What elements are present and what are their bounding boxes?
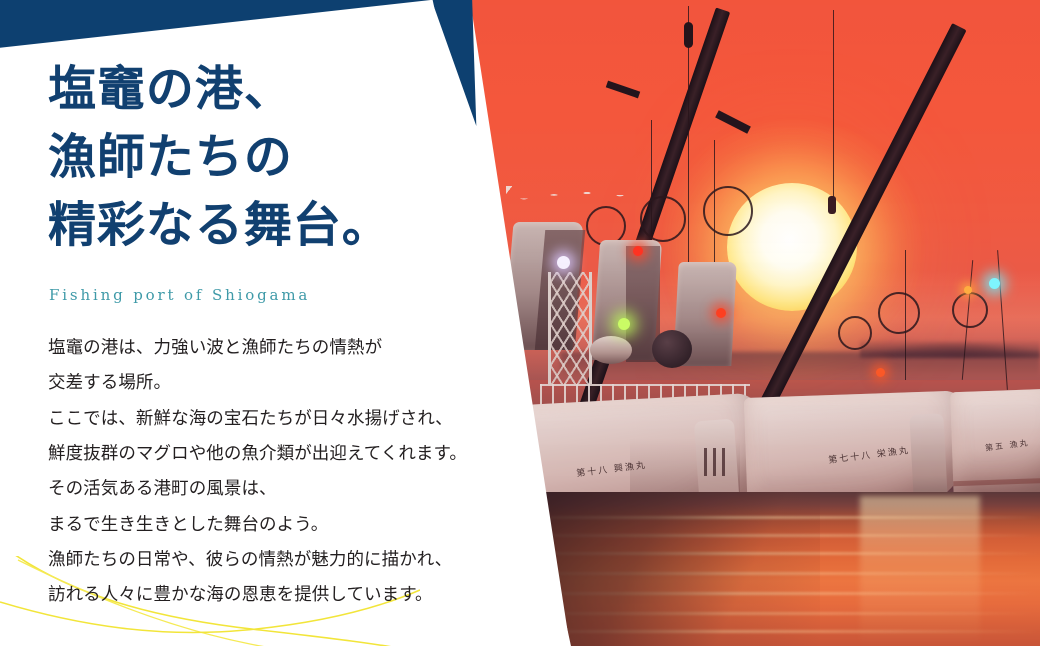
copy-block: 塩竈の港、 漁師たちの 精彩なる舞台。 Fishing port of Shio… [0,0,560,646]
title-line: 漁師たちの [48,123,518,191]
subtitle-english: Fishing port of Shiogama [49,286,310,304]
body-line: まるで生き生きとした舞台のよう。 [48,507,548,542]
body-line: 訪れる人々に豊かな海の恩恵を提供しています。 [48,577,548,612]
body-line: 漁師たちの日常や、彼らの情熱が魅力的に描かれ、 [48,542,548,577]
body-line: 交差する場所。 [48,365,548,400]
page-title: 塩竈の港、 漁師たちの 精彩なる舞台。 [48,55,518,259]
body-line: 鮮度抜群のマグロや他の魚介類が出迎えてくれます。 [48,436,548,471]
body-line: ここでは、新鮮な海の宝石たちが日々水揚げされ、 [48,401,548,436]
title-line: 精彩なる舞台。 [48,191,518,259]
body-line: 塩竈の港は、力強い波と漁師たちの情熱が [48,330,548,365]
hero-banner: 第十八 興漁丸 第七十八 栄漁丸 第五 漁丸 [0,0,1040,646]
body-line: その活気ある港町の風景は、 [48,471,548,506]
body-copy: 塩竈の港は、力強い波と漁師たちの情熱が 交差する場所。 ここでは、新鮮な海の宝石… [48,330,548,613]
title-line: 塩竈の港、 [48,55,518,123]
